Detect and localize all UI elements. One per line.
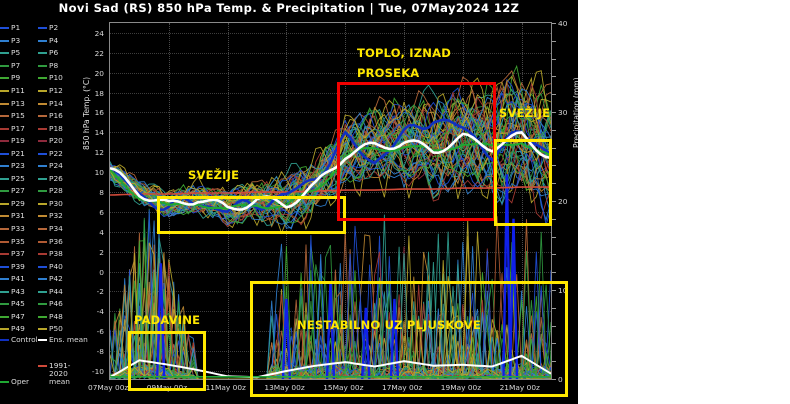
legend-oper-label: Oper [11,378,29,386]
legend-item-label: P31 [11,212,25,220]
legend-item-label: P42 [49,275,63,283]
legend-item-p6: P6 [38,47,76,60]
legend-item-p40: P40 [38,260,76,273]
legend-control: Control [0,336,38,344]
legend-item-p49: P49 [0,323,38,336]
y-tick-left: 2 [80,248,104,257]
legend-color-swatch [38,103,47,105]
unstable-showers-box [250,281,568,397]
legend-color-swatch [0,128,9,130]
y-tick-right: 20 [558,197,578,206]
legend-color-swatch [38,278,47,280]
y-tick-left: -8 [80,347,104,356]
legend-item-label: P25 [11,175,25,183]
legend-item-label: P16 [49,112,63,120]
legend-item-p29: P29 [0,198,38,211]
y-tick-left: 24 [80,29,104,38]
legend-item-p23: P23 [0,160,38,173]
legend-item-label: P24 [49,162,63,170]
legend-color-swatch [0,339,9,341]
legend-item-p28: P28 [38,185,76,198]
legend-color-swatch [0,203,9,205]
legend-color-swatch [38,115,47,117]
legend-item-p9: P9 [0,72,38,85]
legend-color-swatch [0,215,9,217]
legend-item-label: P6 [49,49,58,57]
legend-item-p25: P25 [0,173,38,186]
legend-color-swatch [38,27,47,29]
legend-column-even: P2P4P6P8P10P12P14P16P18P20P22P24P26P28P3… [38,22,76,336]
legend-item-p10: P10 [38,72,76,85]
legend-item-label: P7 [11,62,20,70]
legend-item-label: P18 [49,125,63,133]
legend-item-label: P34 [49,225,63,233]
y-tick-mark-right [552,130,556,131]
y-tick-mark-right [552,201,556,202]
legend-item-p2: P2 [38,22,76,35]
legend-item-label: P4 [49,37,58,45]
legend-item-label: P11 [11,87,25,95]
legend-climate-mean-label: 1991-2020 mean [49,362,78,386]
legend-color-swatch [0,165,9,167]
legend-item-p43: P43 [0,285,38,298]
legend-color-swatch [0,103,9,105]
legend-item-p19: P19 [0,135,38,148]
legend-item-p18: P18 [38,122,76,135]
legend-color-swatch [0,316,9,318]
legend-color-swatch [0,140,9,142]
legend-item-label: P1 [11,24,20,32]
legend-item-label: P29 [11,200,25,208]
legend-color-swatch [38,328,47,330]
legend-item-label: P50 [49,325,63,333]
legend-item-p14: P14 [38,97,76,110]
y-tick-mark-right [552,148,556,149]
legend-item-p11: P11 [0,85,38,98]
legend-color-swatch [0,178,9,180]
legend-item-label: P32 [49,212,63,220]
y-tick-left: 16 [80,108,104,117]
cooler-early-label: SVEŽIJE [188,168,239,182]
y-tick-mark-right [552,59,556,60]
legend-item-label: P39 [11,263,25,271]
y-tick-left: 0 [80,268,104,277]
y-tick-left: 4 [80,228,104,237]
legend-ens-mean: Ens. mean [38,336,88,344]
legend-item-label: P44 [49,288,63,296]
legend-item-p48: P48 [38,311,76,324]
legend-item-p13: P13 [0,97,38,110]
legend-item-label: P13 [11,100,25,108]
legend-item-label: P21 [11,150,25,158]
legend-item-label: P43 [11,288,25,296]
legend-item-p38: P38 [38,248,76,261]
legend-color-swatch [0,40,9,42]
legend-color-swatch [0,190,9,192]
y-tick-left: -10 [80,367,104,376]
precipitation-early-label: PADAVINE [134,313,200,327]
legend-color-swatch [38,365,47,367]
y-tick-mark-right [552,112,556,113]
legend-color-swatch [38,266,47,268]
y-tick-mark-right [552,183,556,184]
legend-item-p47: P47 [0,311,38,324]
legend-color-swatch [38,316,47,318]
legend-control-label: Control [11,336,38,344]
legend-climate-mean: 1991-2020 mean [38,362,78,386]
legend-item-p36: P36 [38,235,76,248]
legend-item-label: P3 [11,37,20,45]
legend-color-swatch [38,77,47,79]
screenshot-root: Novi Sad (RS) 850 hPa Temp. & Precipitat… [0,0,790,404]
legend-item-label: P19 [11,137,25,145]
legend-item-label: P38 [49,250,63,258]
legend-item-label: P8 [49,62,58,70]
legend-color-swatch [38,241,47,243]
legend-item-label: P45 [11,300,25,308]
legend-color-swatch [38,339,47,341]
legend-item-label: P20 [49,137,63,145]
y-tick-left: 22 [80,49,104,58]
legend-item-p32: P32 [38,210,76,223]
x-tick: 11May 00z [206,383,246,392]
legend-item-label: P14 [49,100,63,108]
legend-item-label: P12 [49,87,63,95]
legend-item-label: P2 [49,24,58,32]
x-tick: 07May 00z [88,383,128,392]
y-tick-right: 30 [558,108,578,117]
y-tick-left: 14 [80,128,104,137]
y-tick-mark-right [552,254,556,255]
y-tick-left: -2 [80,287,104,296]
legend-color-swatch [38,165,47,167]
legend-color-swatch [0,291,9,293]
y-tick-mark-right [552,76,556,77]
legend-item-label: P47 [11,313,25,321]
legend-item-label: P28 [49,187,63,195]
legend-item-p24: P24 [38,160,76,173]
legend-item-p17: P17 [0,122,38,135]
y-tick-left: 20 [80,69,104,78]
chart-panel: Novi Sad (RS) 850 hPa Temp. & Precipitat… [0,0,578,404]
legend-color-swatch [38,90,47,92]
legend-item-label: P23 [11,162,25,170]
legend-item-label: P5 [11,49,20,57]
legend-item-label: P40 [49,263,63,271]
legend-color-swatch [0,266,9,268]
y-tick-right: 40 [558,19,578,28]
unstable-showers-label: NESTABILNO UZ PLJUSKOVE [297,318,481,332]
legend-item-p5: P5 [0,47,38,60]
legend-color-swatch [38,140,47,142]
y-tick-mark-right [552,94,556,95]
legend-color-swatch [0,253,9,255]
legend-item-label: P27 [11,187,25,195]
legend-item-label: P36 [49,238,63,246]
legend-item-p44: P44 [38,285,76,298]
y-tick-mark-right [552,23,556,24]
y-tick-left: 10 [80,168,104,177]
legend-item-p45: P45 [0,298,38,311]
legend-item-p4: P4 [38,35,76,48]
legend-item-label: P49 [11,325,25,333]
chart-title: Novi Sad (RS) 850 hPa Temp. & Precipitat… [0,1,578,15]
legend-item-label: P30 [49,200,63,208]
legend-color-swatch [0,27,9,29]
warm-above-average-box [337,82,496,221]
legend-item-label: P33 [11,225,25,233]
legend-item-p41: P41 [0,273,38,286]
legend-color-swatch [38,253,47,255]
legend-color-swatch [0,52,9,54]
commentary-panel: ANSAMBLE NIZ ECMWF-a POSLE SVEŽIJEG VREM… [578,0,790,404]
legend-color-swatch [0,153,9,155]
legend-item-p37: P37 [0,248,38,261]
legend-item-label: P10 [49,74,63,82]
legend-item-label: P46 [49,300,63,308]
legend-color-swatch [0,381,9,383]
legend-color-swatch [38,190,47,192]
legend-item-label: P37 [11,250,25,258]
y-tick-mark-right [552,272,556,273]
legend-item-p26: P26 [38,173,76,186]
legend-item-p15: P15 [0,110,38,123]
legend-item-label: P48 [49,313,63,321]
legend-item-label: P41 [11,275,25,283]
y-tick-mark-right [552,237,556,238]
legend: P1P3P5P7P9P11P13P15P17P19P21P23P25P27P29… [0,22,76,397]
legend-ens-mean-label: Ens. mean [49,336,88,344]
y-tick-mark-right [552,219,556,220]
legend-color-swatch [0,115,9,117]
y-tick-mark-right [552,165,556,166]
warm-above-average-label-line2: PROSEKA [357,66,419,80]
precipitation-early-box [128,331,206,391]
legend-item-p33: P33 [0,223,38,236]
cooler-early-box [157,196,346,234]
legend-color-swatch [0,65,9,67]
legend-color-swatch [38,215,47,217]
legend-item-p50: P50 [38,323,76,336]
legend-item-label: P9 [11,74,20,82]
legend-column-odd: P1P3P5P7P9P11P13P15P17P19P21P23P25P27P29… [0,22,38,336]
legend-item-p7: P7 [0,60,38,73]
legend-item-label: P26 [49,175,63,183]
y-tick-left: 12 [80,148,104,157]
legend-color-swatch [38,52,47,54]
legend-item-label: P35 [11,238,25,246]
legend-color-swatch [0,241,9,243]
legend-item-p31: P31 [0,210,38,223]
legend-color-swatch [38,228,47,230]
warm-above-average-label-line1: TOPLO, IZNAD [357,46,451,60]
legend-oper: Oper [0,378,29,386]
legend-color-swatch [38,153,47,155]
legend-color-swatch [38,291,47,293]
legend-item-p30: P30 [38,198,76,211]
cooler-late-label: SVEŽIJE [499,106,550,120]
legend-item-p1: P1 [0,22,38,35]
legend-item-p39: P39 [0,260,38,273]
legend-color-swatch [0,278,9,280]
legend-item-label: P17 [11,125,25,133]
y-tick-mark-right [552,41,556,42]
cooler-late-box [494,139,552,226]
legend-item-p35: P35 [0,235,38,248]
legend-color-swatch [0,90,9,92]
legend-item-label: P22 [49,150,63,158]
legend-color-swatch [38,178,47,180]
legend-color-swatch [38,128,47,130]
legend-item-p12: P12 [38,85,76,98]
legend-item-p8: P8 [38,60,76,73]
legend-color-swatch [38,303,47,305]
legend-color-swatch [0,303,9,305]
y-tick-left: 8 [80,188,104,197]
legend-item-p21: P21 [0,147,38,160]
y-tick-left: 6 [80,208,104,217]
legend-item-p20: P20 [38,135,76,148]
legend-item-p3: P3 [0,35,38,48]
y-tick-left: -4 [80,307,104,316]
legend-color-swatch [0,328,9,330]
legend-color-swatch [38,65,47,67]
legend-item-p46: P46 [38,298,76,311]
legend-item-p16: P16 [38,110,76,123]
y-tick-left: 18 [80,89,104,98]
legend-color-swatch [38,40,47,42]
y-tick-left: -6 [80,327,104,336]
legend-item-p34: P34 [38,223,76,236]
legend-color-swatch [0,77,9,79]
legend-color-swatch [38,203,47,205]
legend-item-label: P15 [11,112,25,120]
legend-item-p27: P27 [0,185,38,198]
legend-item-p42: P42 [38,273,76,286]
legend-item-p22: P22 [38,147,76,160]
legend-color-swatch [0,228,9,230]
